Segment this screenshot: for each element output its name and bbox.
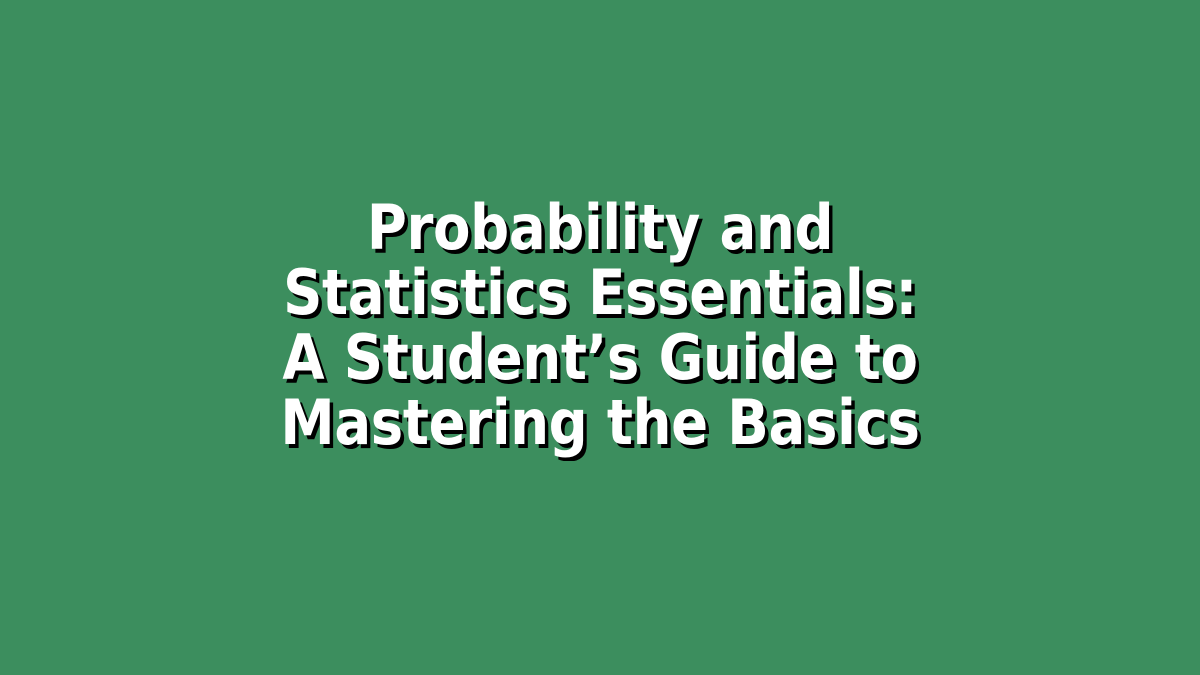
title-block: Probability and Statistics Essentials: A… bbox=[205, 195, 995, 455]
page-title: Probability and Statistics Essentials: A… bbox=[252, 195, 947, 455]
title-card: Probability and Statistics Essentials: A… bbox=[0, 0, 1200, 675]
